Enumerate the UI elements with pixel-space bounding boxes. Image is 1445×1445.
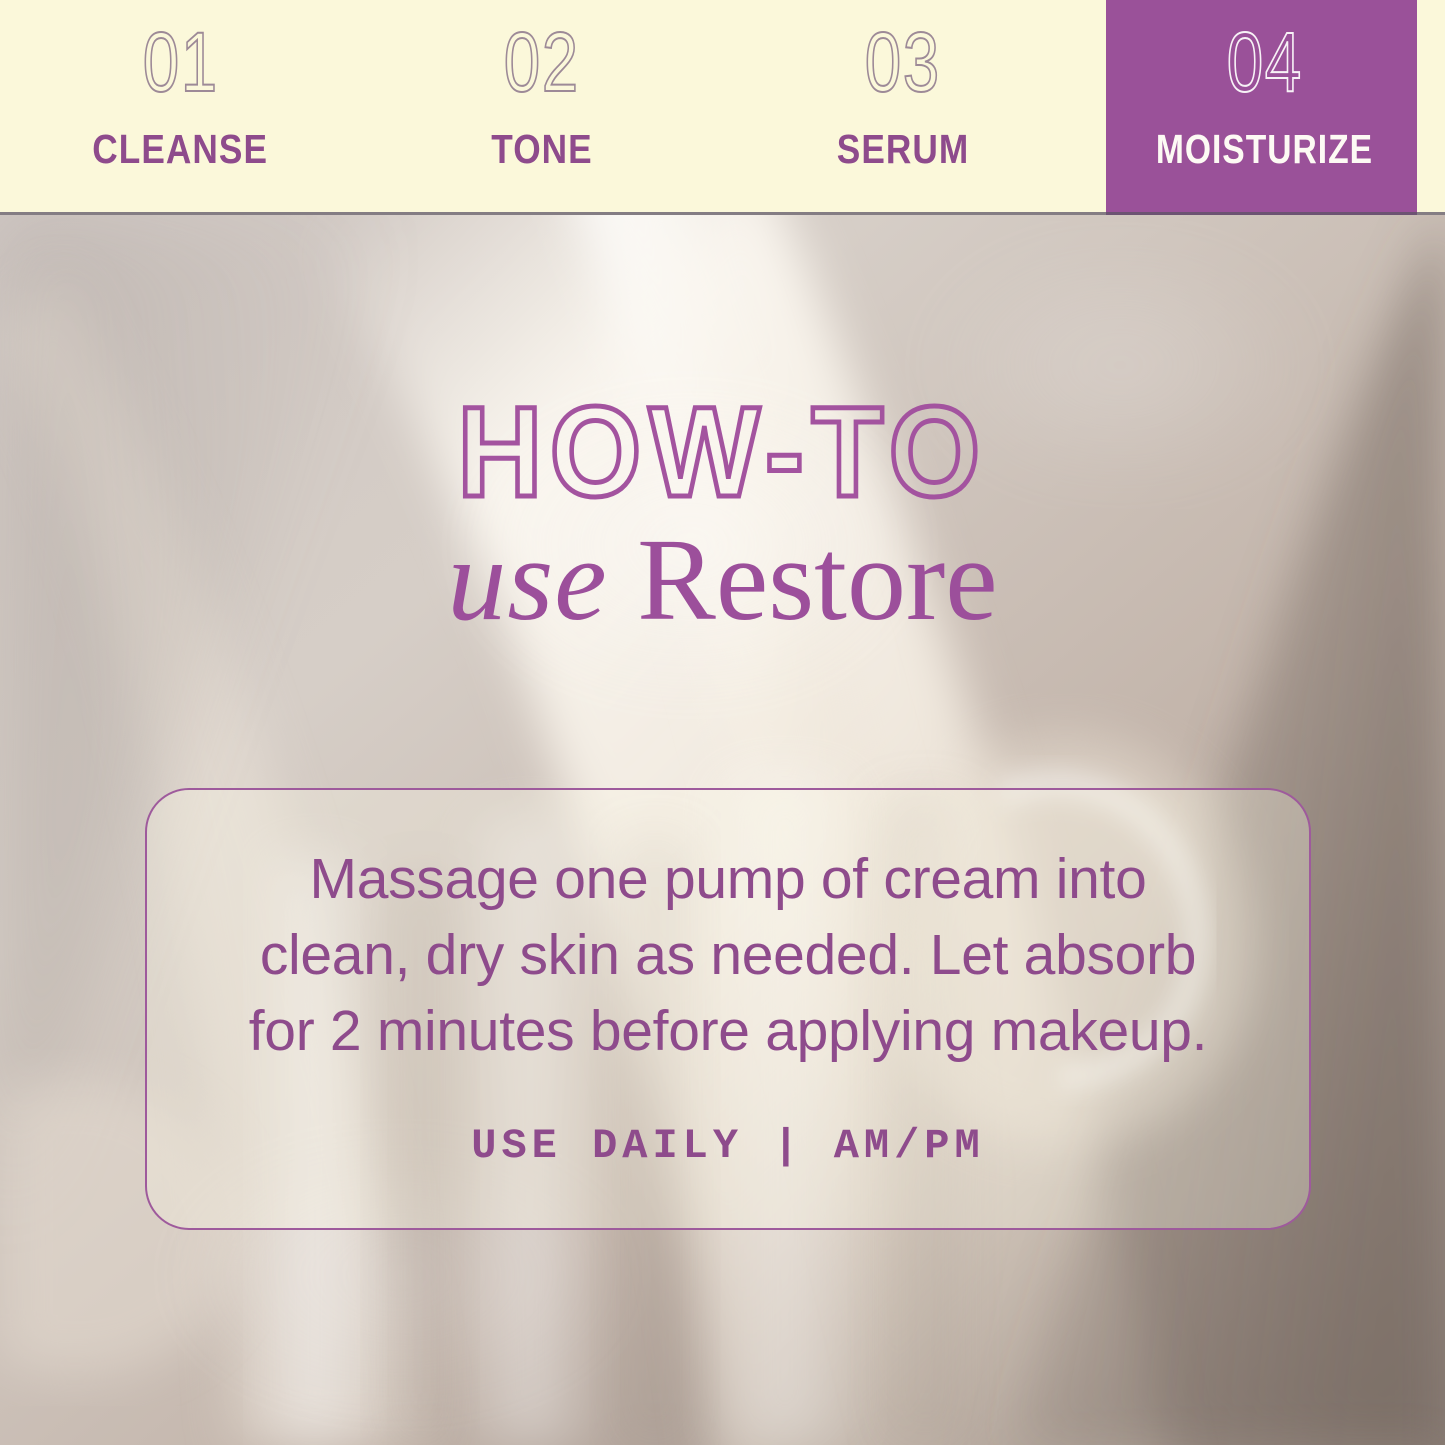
step-item-tone[interactable]: 02 TONE (361, 0, 722, 215)
step-navigation: 01 CLEANSE 02 TONE 03 SERUM 04 MOISTURIZ… (0, 0, 1445, 215)
step-item-moisturize[interactable]: 04 MOISTURIZE (1084, 0, 1445, 215)
step-label: CLEANSE (93, 126, 269, 173)
instruction-card: Massage one pump of cream into clean, dr… (145, 788, 1311, 1230)
step-number: 02 (504, 20, 580, 104)
step-item-cleanse[interactable]: 01 CLEANSE (0, 0, 361, 215)
step-label: MOISTURIZE (1156, 126, 1373, 173)
step-item-serum[interactable]: 03 SERUM (723, 0, 1084, 215)
step-number: 03 (865, 20, 941, 104)
step-number: 01 (143, 20, 219, 104)
step-number: 04 (1226, 20, 1302, 104)
step-label: SERUM (837, 126, 970, 173)
step-label: TONE (491, 126, 592, 173)
usage-frequency-text: USE DAILY | AM/PM (471, 1122, 984, 1170)
instruction-text: Massage one pump of cream into clean, dr… (228, 842, 1228, 1069)
how-to-card: 01 CLEANSE 02 TONE 03 SERUM 04 MOISTURIZ… (0, 0, 1445, 1445)
